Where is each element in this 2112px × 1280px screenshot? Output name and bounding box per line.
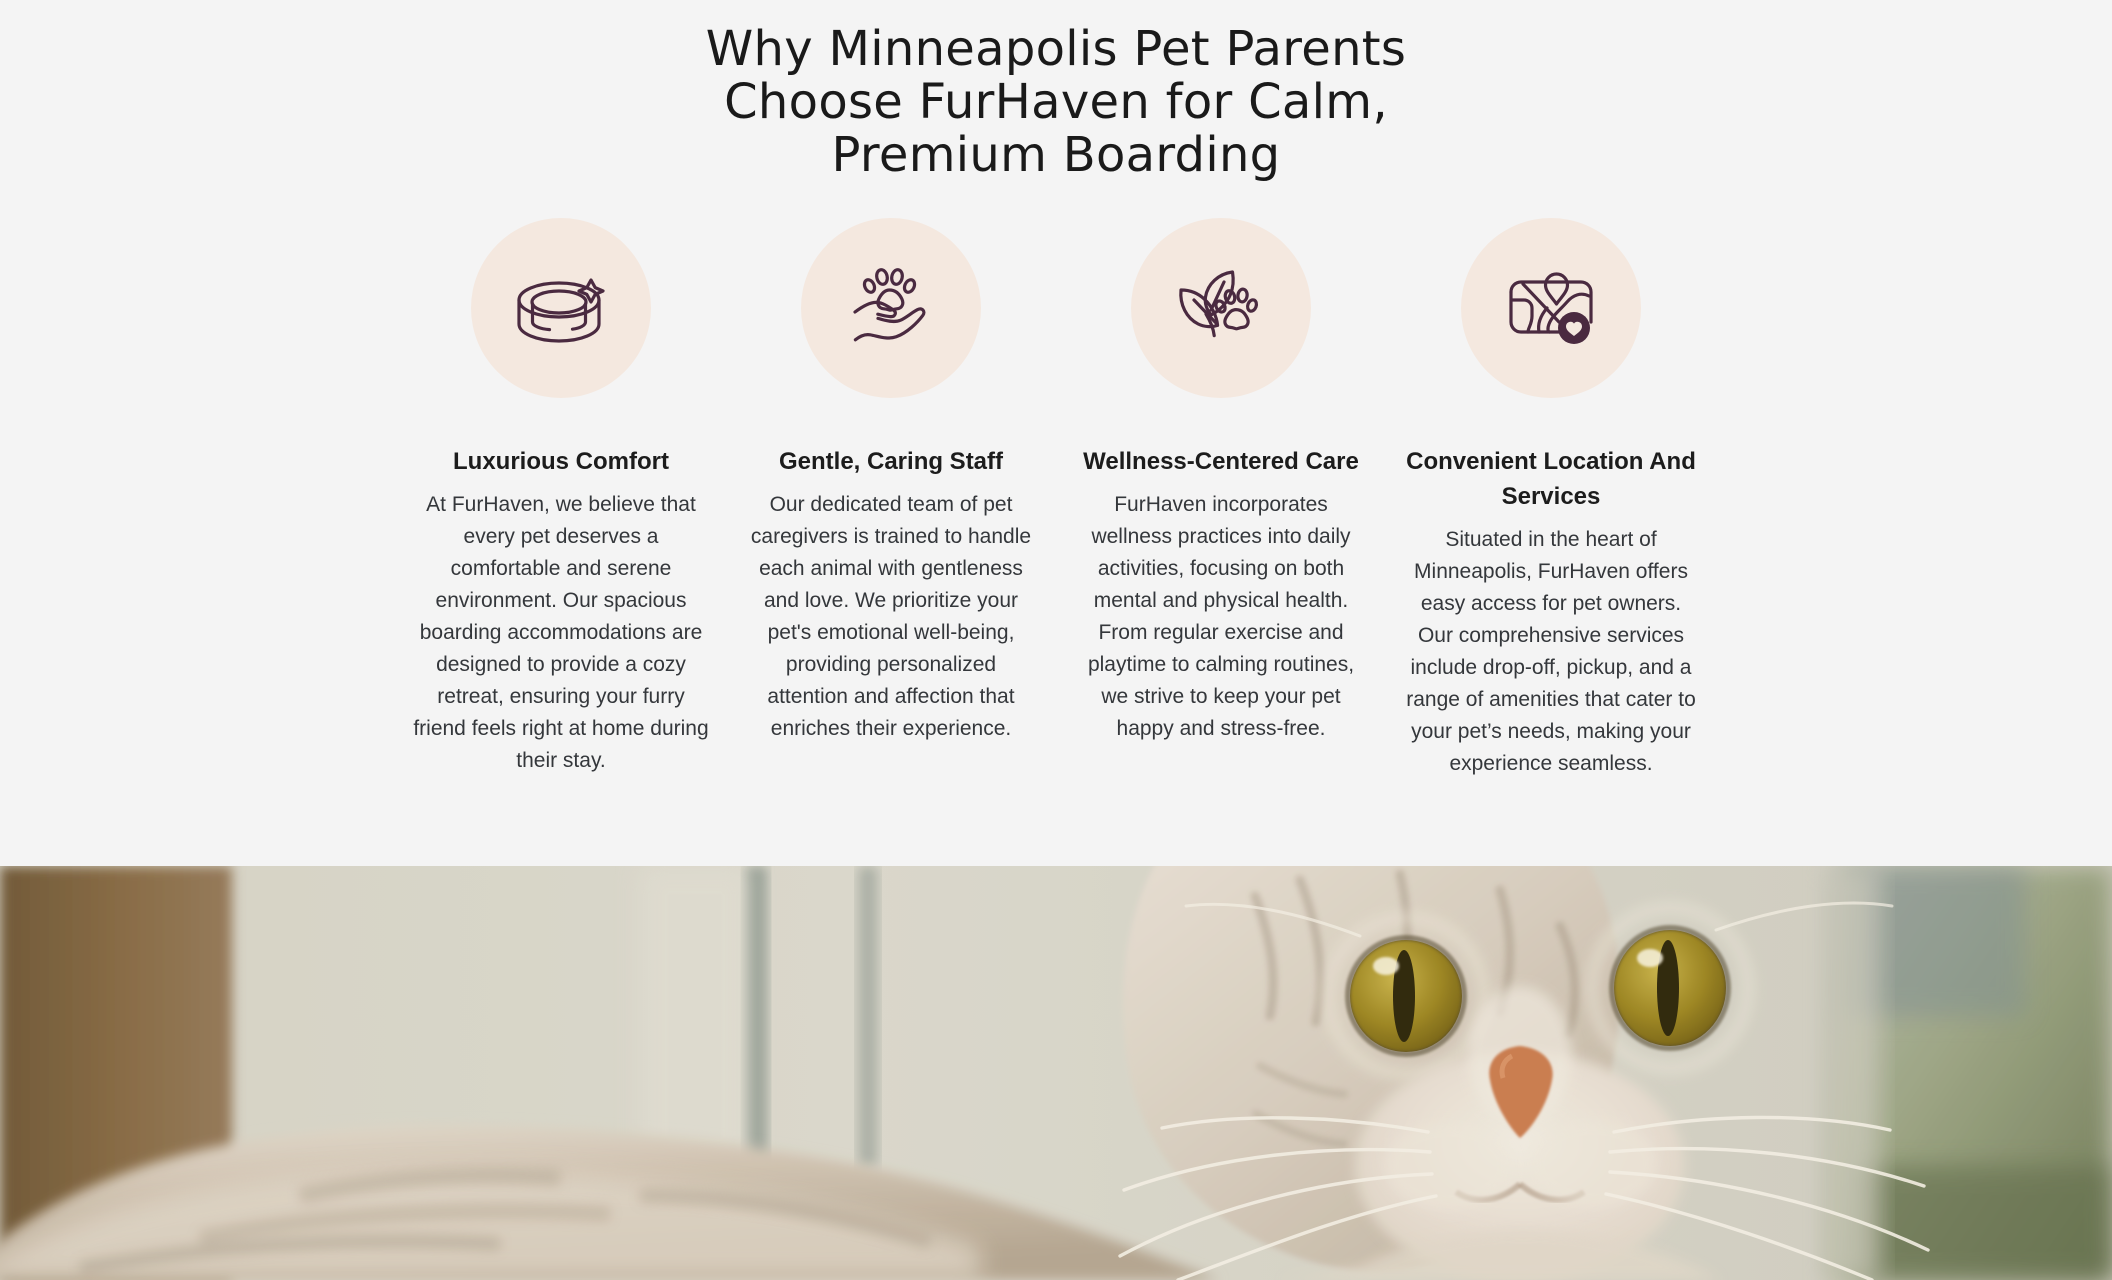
pet-bed-sparkle-icon <box>505 252 617 364</box>
icon-circle <box>1131 218 1311 398</box>
leaf-paw-wellness-icon <box>1165 252 1277 364</box>
hand-holding-paw-icon <box>835 252 947 364</box>
feature-card-body: FurHaven incorporates wellness practices… <box>1073 489 1369 745</box>
feature-card-body: Our dedicated team of pet caregivers is … <box>743 489 1039 745</box>
icon-circle <box>471 218 651 398</box>
features-section: Why Minneapolis Pet Parents Choose FurHa… <box>0 0 2112 866</box>
feature-card-gentle-caring-staff: Gentle, Caring Staff Our dedicated team … <box>741 218 1041 745</box>
page-root: Why Minneapolis Pet Parents Choose FurHa… <box>0 0 2112 1280</box>
icon-circle <box>801 218 981 398</box>
map-pin-heart-icon <box>1495 252 1607 364</box>
feature-card-luxurious-comfort: Luxurious Comfort At FurHaven, we believ… <box>411 218 711 777</box>
feature-card-title: Gentle, Caring Staff <box>779 444 1003 479</box>
feature-card-title: Convenient Location And Services <box>1406 444 1696 514</box>
feature-card-body: Situated in the heart of Minneapolis, Fu… <box>1403 524 1699 780</box>
page-title: Why Minneapolis Pet Parents Choose FurHa… <box>406 23 1706 182</box>
feature-card-body: At FurHaven, we believe that every pet d… <box>413 489 709 777</box>
feature-card-wellness-centered-care: Wellness-Centered Care FurHaven incorpor… <box>1071 218 1371 745</box>
cat-closeup-photo <box>0 866 2112 1280</box>
icon-circle <box>1461 218 1641 398</box>
feature-card-convenient-location: Convenient Location And Services Situate… <box>1401 218 1701 780</box>
feature-cards-row: Luxurious Comfort At FurHaven, we believ… <box>411 218 1701 780</box>
feature-card-title: Luxurious Comfort <box>453 444 669 479</box>
feature-card-title: Wellness-Centered Care <box>1083 444 1359 479</box>
